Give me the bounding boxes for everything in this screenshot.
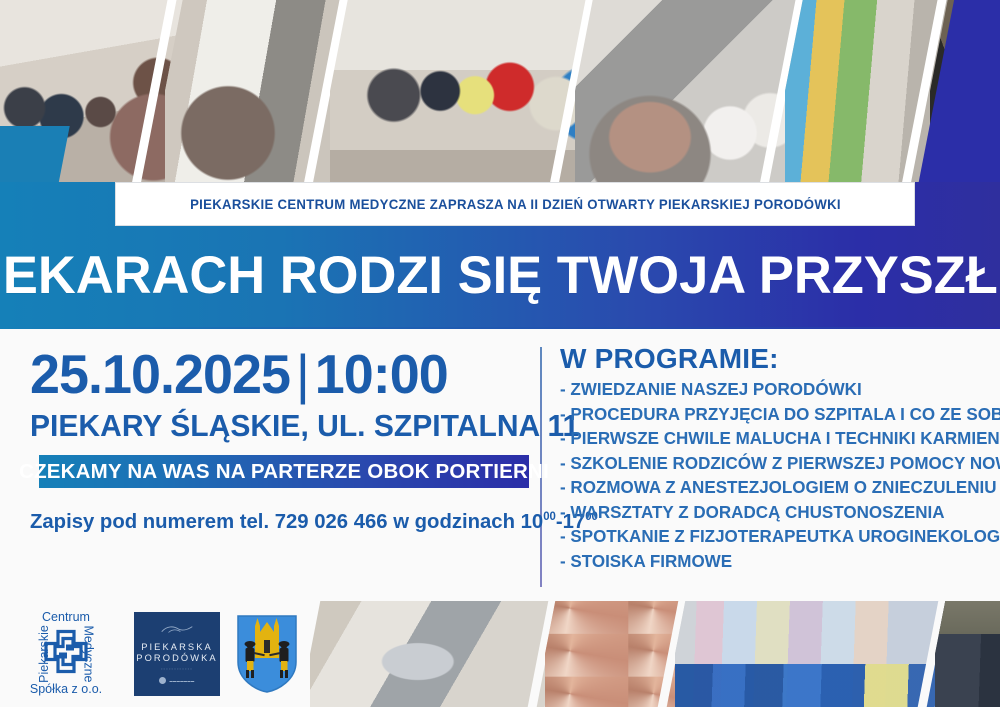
top-left-color-wedge (0, 126, 70, 182)
bottom-photo-strip (300, 601, 1000, 707)
event-datetime: 25.10.2025|10:00 (30, 347, 525, 402)
poster-root: PIEKARSKIE CENTRUM MEDYCZNE ZAPRASZA NA … (0, 0, 1000, 707)
program-title: W PROGRAMIE: (560, 343, 990, 375)
footer-area: Centrum Spółka z o.o. Piekarskie Medyczn… (0, 601, 1000, 707)
page-title: W PIEKARACH RODZI SIĘ TWOJA PRZYSZŁOŚĆ (0, 245, 1000, 306)
list-item: - SZKOLENIE RODZICÓW Z PIERWSZEJ POMOCY … (560, 451, 984, 476)
event-date: 25.10.2025 (30, 343, 290, 405)
meeting-point-banner: CZEKAMY NA WAS NA PARTERZE OBOK PORTIERN… (39, 455, 529, 488)
content-area: 25.10.2025|10:00 PIEKARY ŚLĄSKIE, UL. SZ… (0, 333, 1000, 601)
list-item: - SPOTKANIE Z FIZJOTERAPEUTKA UROGINEKOL… (560, 524, 984, 549)
registration-phone-line: Zapisy pod numerem tel. 729 026 466 w go… (30, 510, 530, 534)
medical-cross-icon (41, 627, 91, 682)
meeting-point-text: CZEKAMY NA WAS NA PARTERZE OBOK PORTIERN… (19, 460, 549, 484)
phone-prefix: Zapisy pod numerem tel. 729 026 466 w go… (30, 510, 543, 533)
pcm-logo: Centrum Spółka z o.o. Piekarskie Medyczn… (14, 608, 118, 700)
list-item: - ROZMOWA Z ANESTEZJOLOGIEM O ZNIECZULEN… (560, 475, 984, 500)
porodowka-logo-endorsement: ▬▬▬▬▬▬▬ (159, 677, 194, 684)
list-item: - PROCEDURA PRZYJĘCIA DO SZPITALA I CO Z… (560, 402, 984, 427)
event-details-column: 25.10.2025|10:00 PIEKARY ŚLĄSKIE, UL. SZ… (30, 333, 535, 534)
list-item: - PIERWSZE CHWILE MALUCHA I TECHNIKI KAR… (560, 426, 984, 451)
program-list: - ZWIEDZANIE NASZEJ PORODÓWKI - PROCEDUR… (560, 377, 990, 573)
list-item: - ZWIEDZANIE NASZEJ PORODÓWKI (560, 377, 984, 402)
piekary-slaskie-coat-of-arms (236, 614, 298, 694)
stork-swirl-icon (160, 624, 194, 636)
headline-container: W PIEKARACH RODZI SIĘ TWOJA PRZYSZŁOŚĆ (0, 230, 1000, 320)
list-item: - WARSZTATY Z DORADCĄ CHUSTONOSZENIA (560, 500, 984, 525)
photo-neonatal-equipment-room (300, 601, 567, 707)
phone-hours-start-minutes: 00 (543, 511, 556, 523)
invitation-banner: PIEKARSKIE CENTRUM MEDYCZNE ZAPRASZA NA … (115, 182, 915, 226)
band-bottom-rule (0, 327, 1000, 329)
logo-row: Centrum Spółka z o.o. Piekarskie Medyczn… (0, 601, 305, 707)
list-item: - STOISKA FIRMOWE (560, 549, 984, 574)
pcm-logo-word-top: Centrum (42, 610, 90, 624)
program-column: W PROGRAMIE: - ZWIEDZANIE NASZEJ PORODÓW… (560, 333, 990, 573)
porodowka-logo-line1: PIEKARSKA (141, 642, 213, 652)
porodowka-logo-tagline: ▫▫▫▫▫▫▫▫▫▫▫▫ (161, 667, 193, 671)
event-address: PIEKARY ŚLĄSKIE, UL. SZPITALNA 11 (30, 410, 527, 442)
photo-medical-staff-group (663, 601, 957, 707)
invitation-banner-text: PIEKARSKIE CENTRUM MEDYCZNE ZAPRASZA NA … (190, 197, 841, 212)
date-time-separator: | (290, 343, 315, 405)
event-time: 10:00 (315, 343, 448, 405)
piekarska-porodowka-logo: PIEKARSKA PORODÓWKA ▫▫▫▫▫▫▫▫▫▫▫▫ ▬▬▬▬▬▬▬ (134, 612, 220, 696)
porodowka-logo-line2: PORODÓWKA (136, 653, 217, 663)
pcm-logo-word-bottom: Spółka z o.o. (30, 682, 102, 696)
top-photo-strip (0, 0, 1000, 182)
